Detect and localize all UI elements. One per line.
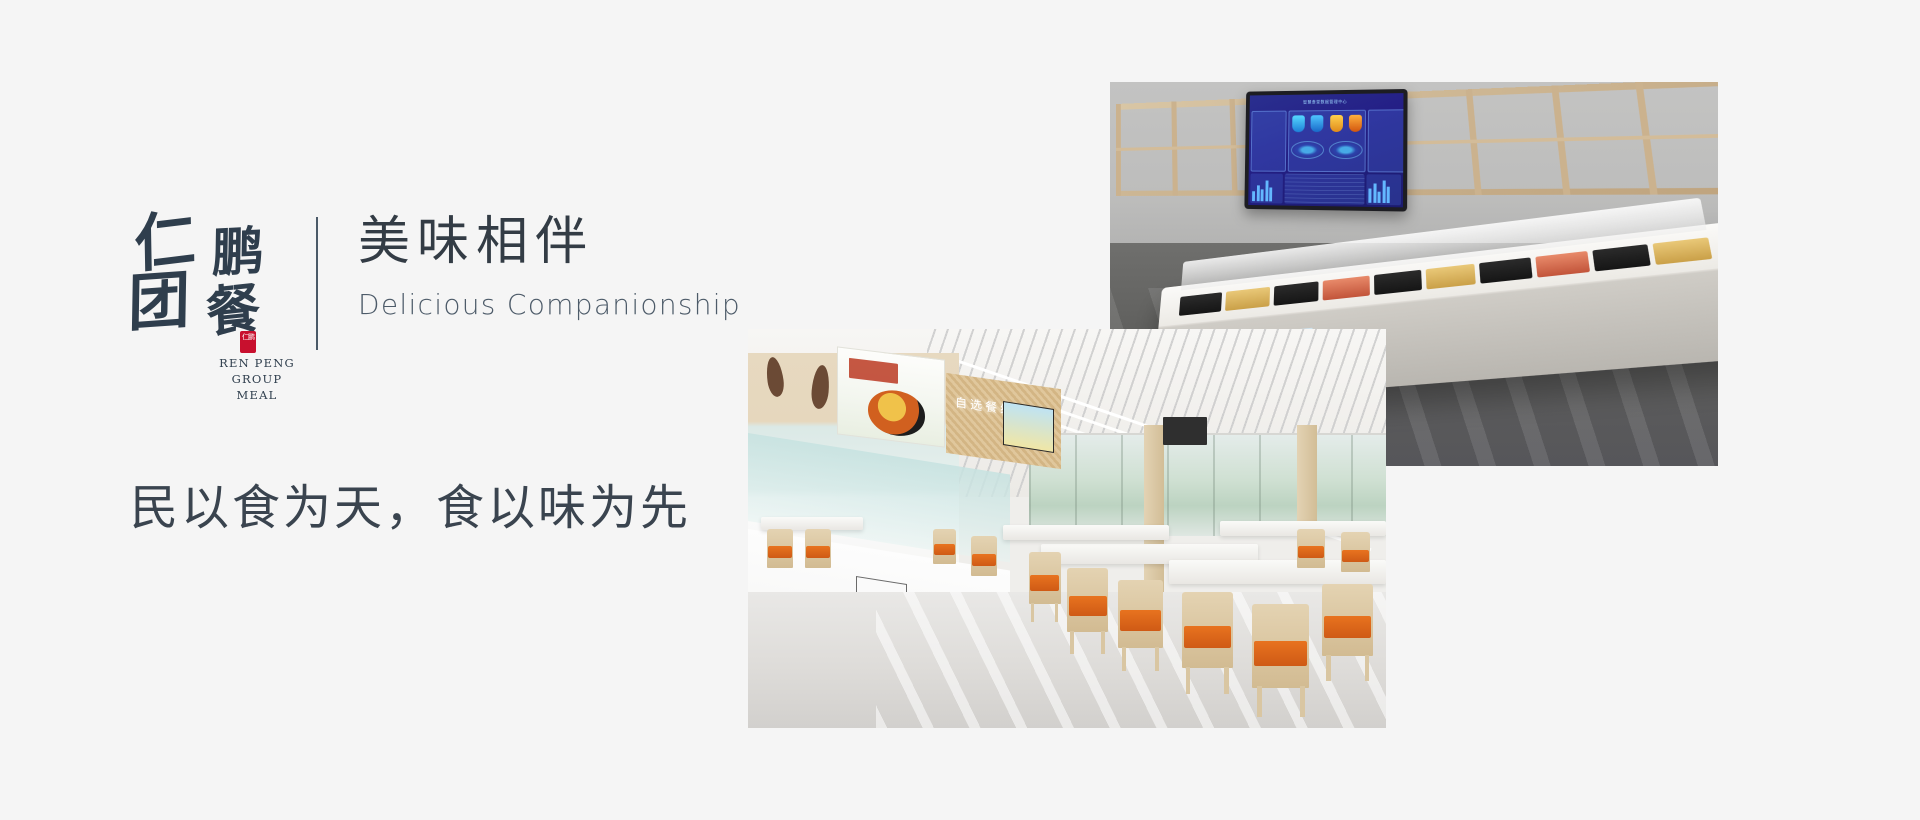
chair-seat: [1298, 546, 1324, 558]
chair-leg: [1186, 667, 1191, 694]
food-tray: [1535, 250, 1590, 277]
chair-seat: [1069, 596, 1107, 615]
logo-english-text: REN PENG GROUP MEAL: [214, 355, 300, 403]
food-tray: [1426, 263, 1477, 289]
food-tray: [1323, 275, 1370, 300]
dashboard-monitor: 智慧食堂数据管理中心: [1244, 89, 1407, 212]
headline-english: Delicious Companionship: [358, 288, 741, 321]
dashboard-bar-chart-left: [1250, 174, 1282, 204]
dining-chair: [1297, 529, 1326, 569]
dashboard-title: 智慧食堂数据管理中心: [1252, 95, 1402, 109]
dashboard-screen: 智慧食堂数据管理中心: [1248, 93, 1403, 207]
chair-leg: [1122, 647, 1126, 671]
chair-leg: [1031, 603, 1034, 622]
dashboard-body: [1251, 109, 1402, 172]
headline-chinese: 美味相伴: [358, 215, 741, 270]
structural-pillar: [1144, 425, 1164, 601]
induction-tray: [1273, 281, 1318, 306]
noodle-bowl-image: [868, 387, 925, 439]
chair-leg: [1326, 655, 1331, 681]
dining-chair: [1341, 532, 1370, 572]
induction-tray: [1479, 257, 1532, 283]
red-seal-stamp-icon: 仁鹏: [240, 331, 256, 353]
chair-leg: [1070, 631, 1074, 654]
dining-chair: [1029, 552, 1061, 604]
dashboard-orb: [1311, 115, 1324, 132]
dining-table: [1003, 525, 1169, 541]
induction-tray: [1374, 269, 1422, 294]
dashboard-orb-row: [1289, 111, 1365, 137]
brand-text-block: 美味相伴 Delicious Companionship: [358, 205, 741, 321]
dining-chair: [1067, 568, 1108, 632]
chair-seat: [1184, 626, 1231, 649]
poster-brand-logo: [849, 357, 898, 384]
chair-seat: [806, 546, 829, 558]
dashboard-orb: [1330, 115, 1343, 132]
logo-char-tuan: 团: [128, 269, 191, 336]
dashboard-radial-gauge: [1291, 141, 1324, 159]
dashboard-right-panel: [1368, 109, 1404, 172]
chair-leg: [1257, 686, 1262, 716]
chair-leg: [1155, 647, 1159, 671]
chair-leg: [1055, 603, 1058, 622]
logo-en-line-2: GROUP: [214, 371, 300, 387]
chair-seat: [1120, 610, 1161, 630]
logo-en-line-1: REN PENG: [214, 355, 300, 371]
dining-chair: [767, 529, 793, 569]
induction-tray: [1593, 244, 1651, 271]
page-root: 仁 鹏 团 餐 仁鹏 REN PENG GROUP MEAL 美味相伴 Deli…: [0, 0, 1920, 820]
brand-block: 仁 鹏 团 餐 仁鹏 REN PENG GROUP MEAL 美味相伴 Deli…: [128, 205, 741, 355]
dashboard-orb: [1349, 115, 1362, 132]
pergola-bottom-rail: [1116, 187, 1718, 196]
dining-chair: [933, 529, 956, 565]
dining-chair: [1252, 604, 1309, 688]
dining-chair: [805, 529, 831, 569]
chair-seat: [972, 554, 995, 566]
chair-leg: [1300, 686, 1305, 716]
dining-chair: [1322, 584, 1373, 656]
chair-seat: [1324, 616, 1371, 638]
dashboard-radial-gauge: [1329, 141, 1363, 159]
dashboard-left-panel: [1251, 111, 1287, 172]
chair-seat: [1342, 550, 1368, 562]
food-tray: [1225, 286, 1269, 310]
dashboard-orb: [1292, 115, 1305, 132]
company-logo: 仁 鹏 团 餐 仁鹏 REN PENG GROUP MEAL: [128, 205, 298, 355]
dashboard-center-panel: [1288, 110, 1367, 173]
pergola-mid-rail: [1116, 131, 1718, 151]
dashboard-ring-row: [1289, 136, 1365, 164]
pergola-post: [1717, 82, 1718, 194]
logo-en-line-3: MEAL: [214, 387, 300, 403]
food-tray: [1652, 237, 1712, 265]
ceiling-tv-screen: [1163, 417, 1208, 445]
logo-char-peng: 鹏: [212, 226, 265, 281]
dining-chair: [1118, 580, 1163, 648]
dining-chair: [971, 536, 997, 576]
chair-seat: [768, 546, 791, 558]
dashboard-footer: [1250, 174, 1401, 206]
chair-seat: [934, 544, 955, 555]
menu-poster-lightbox: [837, 346, 945, 447]
slogan-text: 民以食为天，食以味为先: [130, 468, 691, 538]
chair-leg: [1365, 655, 1370, 681]
chair-seat: [1254, 641, 1307, 666]
induction-tray: [1179, 292, 1223, 316]
counter-digital-menu-screen: [1003, 401, 1054, 453]
cafeteria-interior-photo: 自选餐线: [748, 329, 1386, 728]
chair-leg: [1224, 667, 1229, 694]
dashboard-bar-chart-right: [1367, 174, 1401, 205]
dining-chair: [1182, 592, 1233, 668]
chair-leg: [1101, 631, 1105, 654]
dashboard-data-table: [1284, 174, 1365, 205]
chair-seat: [1030, 575, 1059, 591]
vertical-divider: [316, 217, 318, 350]
